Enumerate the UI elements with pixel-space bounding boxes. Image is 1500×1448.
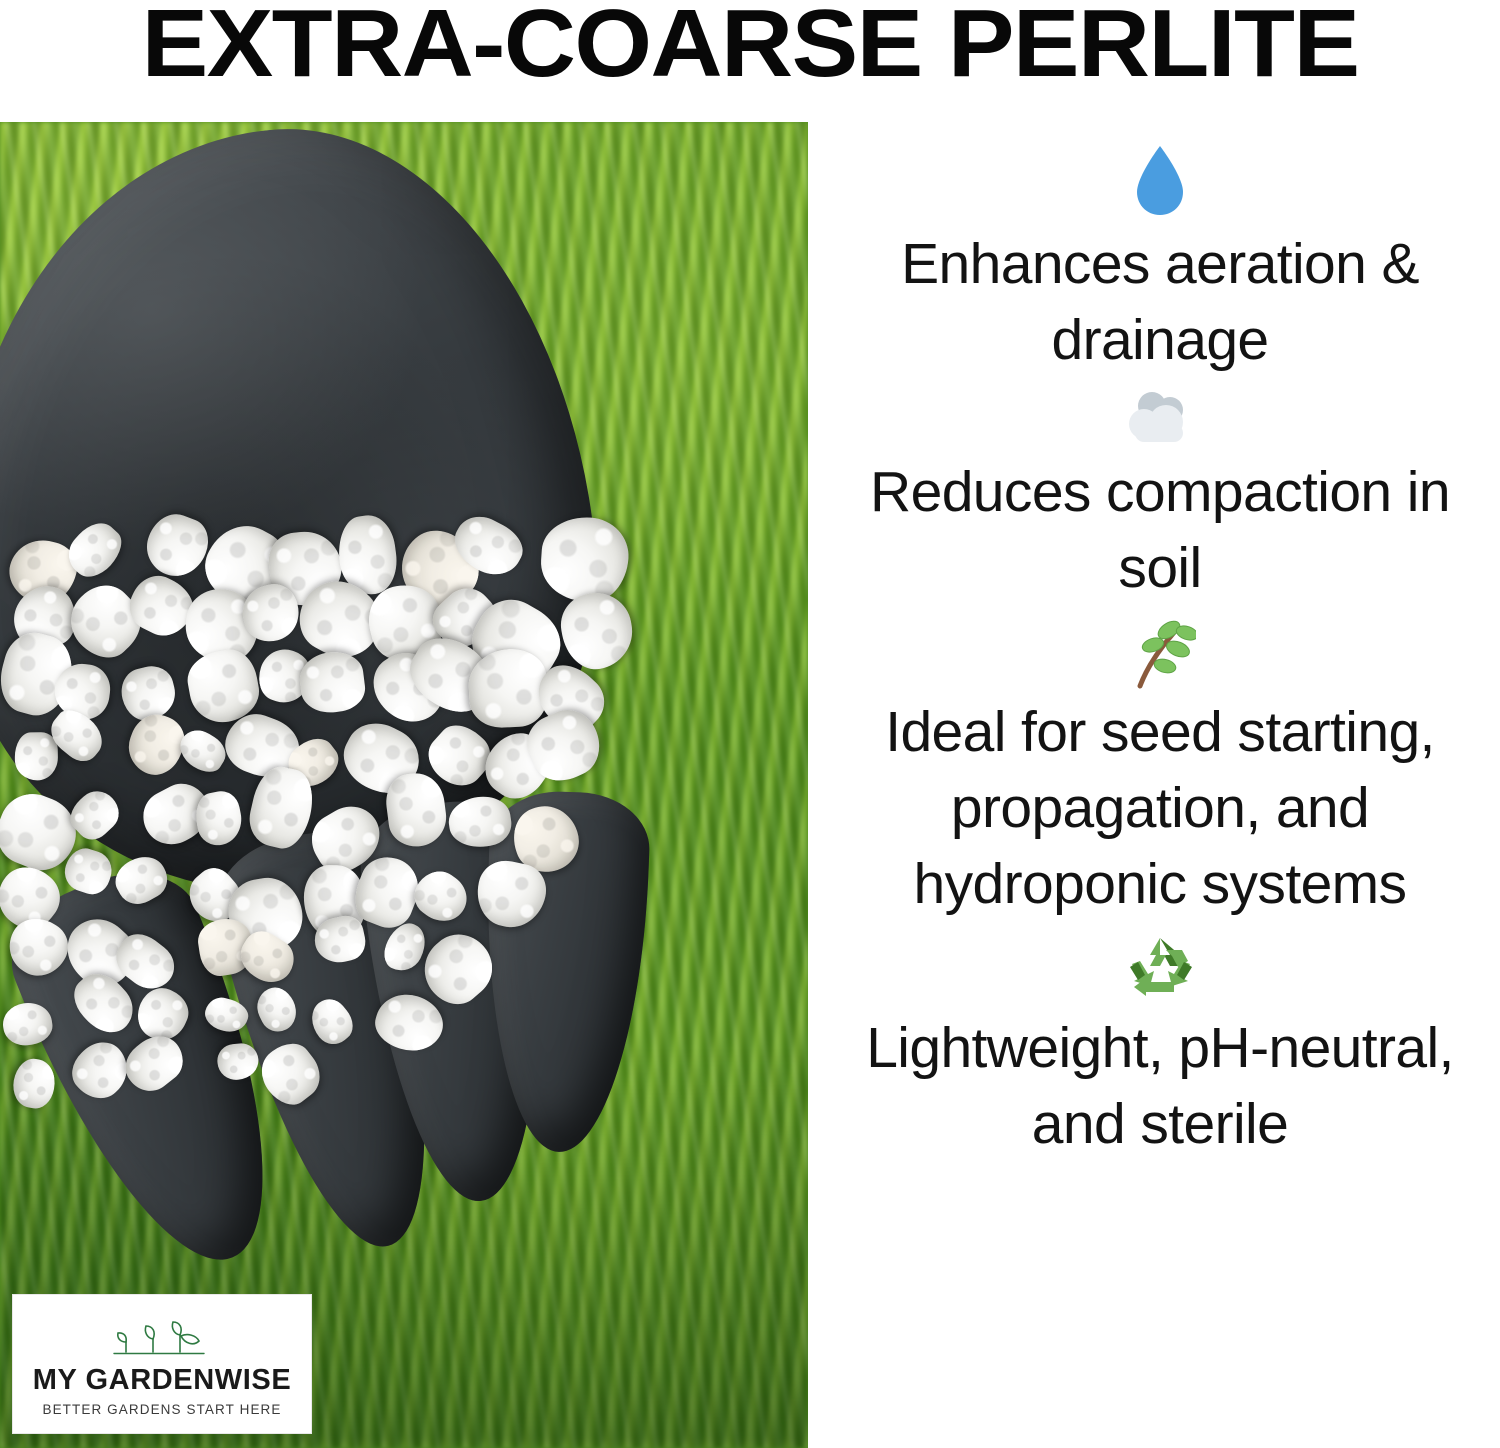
feature-text-seed-starting: Ideal for seed starting, propagation, an… bbox=[830, 694, 1490, 922]
perlite-chunk bbox=[539, 515, 631, 604]
feature-item-seed-starting: Ideal for seed starting, propagation, an… bbox=[820, 606, 1500, 922]
cloud-icon bbox=[1122, 390, 1198, 448]
feature-list: Enhances aeration & drainage Reduces com… bbox=[820, 122, 1500, 1448]
feature-text-aeration: Enhances aeration & drainage bbox=[830, 226, 1490, 378]
perlite-chunk bbox=[383, 770, 449, 850]
three-sprouts-icon bbox=[108, 1316, 216, 1358]
water-droplet-icon bbox=[1133, 144, 1187, 218]
perlite-chunk bbox=[297, 648, 368, 716]
perlite-granules bbox=[0, 517, 640, 1157]
brand-logo-badge: MY GARDENWISE BETTER GARDENS START HERE bbox=[12, 1294, 312, 1434]
perlite-chunk bbox=[217, 1043, 260, 1082]
perlite-chunk bbox=[406, 862, 476, 931]
perlite-chunk bbox=[446, 792, 514, 851]
perlite-chunk bbox=[202, 993, 252, 1035]
title-bar: EXTRA-COARSE PERLITE bbox=[0, 0, 1500, 118]
perlite-chunk bbox=[303, 993, 361, 1052]
herb-seedling-icon bbox=[1124, 616, 1196, 690]
perlite-chunk bbox=[251, 1034, 329, 1113]
perlite-chunk bbox=[109, 848, 175, 911]
feature-text-lightweight: Lightweight, pH-neutral, and sterile bbox=[830, 1010, 1490, 1162]
perlite-chunk bbox=[555, 587, 637, 674]
perlite-chunk bbox=[117, 1026, 193, 1100]
perlite-chunk bbox=[0, 1000, 55, 1049]
perlite-chunk bbox=[139, 507, 216, 585]
feature-item-compaction: Reduces compaction in soil bbox=[820, 378, 1500, 606]
product-photo: MY GARDENWISE BETTER GARDENS START HERE bbox=[0, 122, 808, 1448]
feature-item-aeration: Enhances aeration & drainage bbox=[820, 144, 1500, 378]
feature-item-lightweight: Lightweight, pH-neutral, and sterile bbox=[820, 922, 1500, 1162]
infographic-page: EXTRA-COARSE PERLITE bbox=[0, 0, 1500, 1448]
recycle-icon bbox=[1122, 934, 1198, 1004]
perlite-chunk bbox=[250, 982, 302, 1037]
perlite-chunk bbox=[14, 731, 57, 780]
logo-tagline: BETTER GARDENS START HERE bbox=[42, 1402, 281, 1417]
logo-brand-name: MY GARDENWISE bbox=[33, 1364, 292, 1397]
feature-text-compaction: Reduces compaction in soil bbox=[830, 454, 1490, 606]
page-title: EXTRA-COARSE PERLITE bbox=[142, 0, 1359, 86]
perlite-chunk bbox=[10, 1056, 59, 1111]
